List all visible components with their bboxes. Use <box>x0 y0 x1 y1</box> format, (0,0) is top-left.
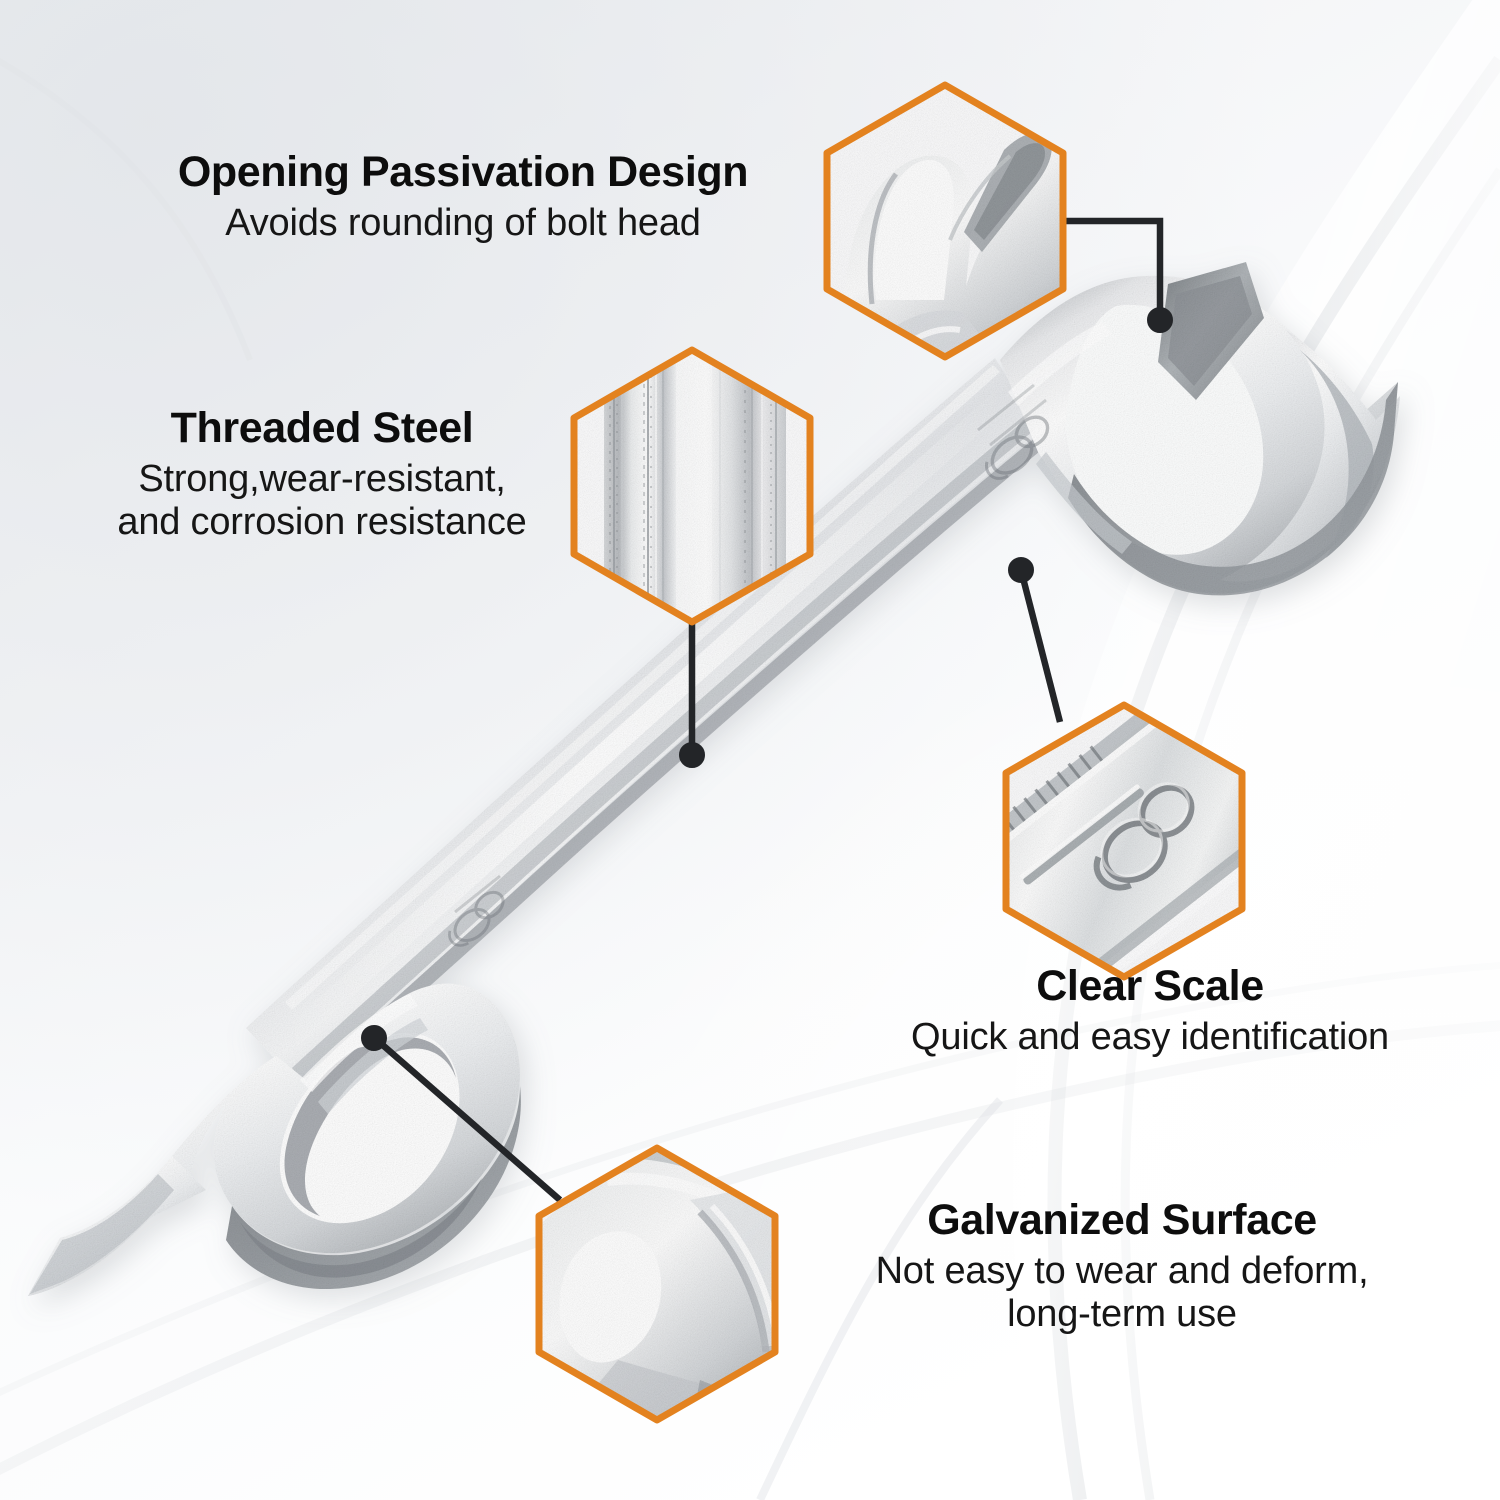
leader-lines <box>362 221 1173 1200</box>
hex-size-marking-closeup[interactable] <box>952 670 1308 1008</box>
hex-galvanized-head-closeup[interactable] <box>535 1143 790 1430</box>
hex-wrench-jaw-closeup[interactable] <box>820 80 1084 365</box>
leader-line-scale <box>1022 574 1060 722</box>
callout-layer <box>0 0 1500 1500</box>
leader-dot-threaded <box>680 743 705 768</box>
leader-line-opening <box>1063 221 1160 318</box>
leader-dot-opening <box>1148 308 1173 333</box>
leader-dot-galvanized <box>362 1026 387 1051</box>
leader-line-galvanized <box>378 1041 560 1200</box>
infographic-canvas: Opening Passivation Design Avoids roundi… <box>0 0 1500 1500</box>
hex-shaft-texture-closeup[interactable] <box>570 345 820 630</box>
leader-dot-scale <box>1009 558 1034 583</box>
